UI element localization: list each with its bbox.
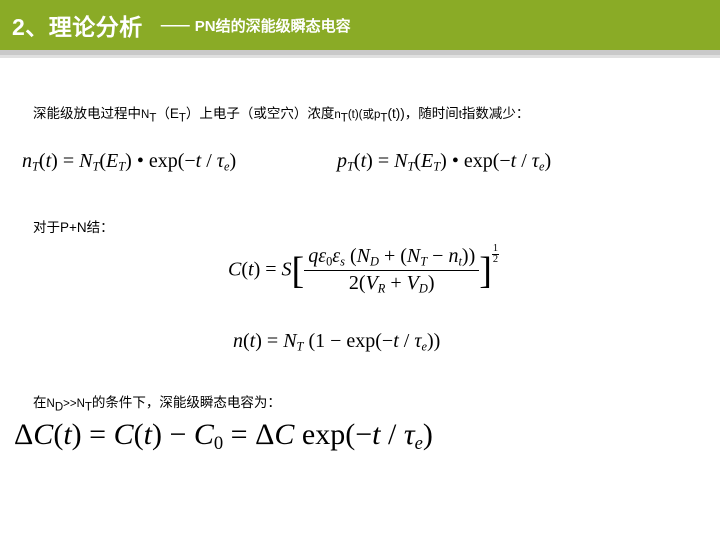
p1-part-c: （E: [156, 106, 179, 121]
header-subtitle: PN结的深能级瞬态电容: [195, 15, 351, 36]
header-bar: 2、理论分析 —— PN结的深能级瞬态电容: [0, 0, 720, 50]
p3-nt: N: [77, 398, 85, 410]
equation-4: n(t) = NT (1 − exp(−t / τe)): [233, 330, 440, 354]
paragraph-1: 深能级放电过程中NT（ET）上电子（或空穴）浓度nT(t)(或pT(t))，随时…: [33, 102, 529, 125]
p3-gtgt: >>: [63, 398, 76, 410]
p3-nt-sub: T: [85, 402, 92, 414]
equation-3: C(t) = S[qε0εs (ND + (NT − nt))2(VR + VD…: [228, 244, 499, 297]
p3-part-e: 的条件下，深能级瞬态电容为：: [92, 395, 281, 410]
page-title: 2、理论分析: [12, 8, 143, 42]
paragraph-3: 在ND>>NT的条件下，深能级瞬态电容为：: [33, 391, 281, 414]
p1-part-h: (t))，随时间: [387, 106, 458, 121]
equation-5: ΔC(t) = C(t) − C0 = ΔC exp(−t / τe): [14, 418, 433, 455]
header-dash: ——: [161, 17, 189, 34]
p1-part-f: (t)(或: [348, 109, 374, 121]
paragraph-2: 对于P+N结：: [33, 216, 114, 236]
equation-1: nT(t) = NT(ET) • exp(−t / τe): [22, 150, 236, 174]
p3-nd: N: [47, 398, 55, 410]
equation-2: pT(t) = NT(ET) • exp(−t / τe): [337, 150, 551, 174]
slide-body: 深能级放电过程中NT（ET）上电子（或空穴）浓度nT(t)(或pT(t))，随时…: [0, 58, 720, 541]
p1-et-sub: T: [179, 113, 186, 125]
p3-part-a: 在: [33, 395, 47, 410]
p3-nd-sub: D: [55, 402, 63, 414]
slide: 2、理论分析 —— PN结的深能级瞬态电容 深能级放电过程中NT（ET）上电子（…: [0, 0, 720, 541]
header-content: 2、理论分析 —— PN结的深能级瞬态电容: [12, 0, 351, 50]
p1-n-sub: T: [341, 113, 348, 125]
p1-part-d: ）上电子（或空穴）浓度: [186, 106, 335, 121]
p1-part-a: 深能级放电过程中: [33, 106, 141, 121]
p1-part-j: 指数减少：: [462, 106, 530, 121]
